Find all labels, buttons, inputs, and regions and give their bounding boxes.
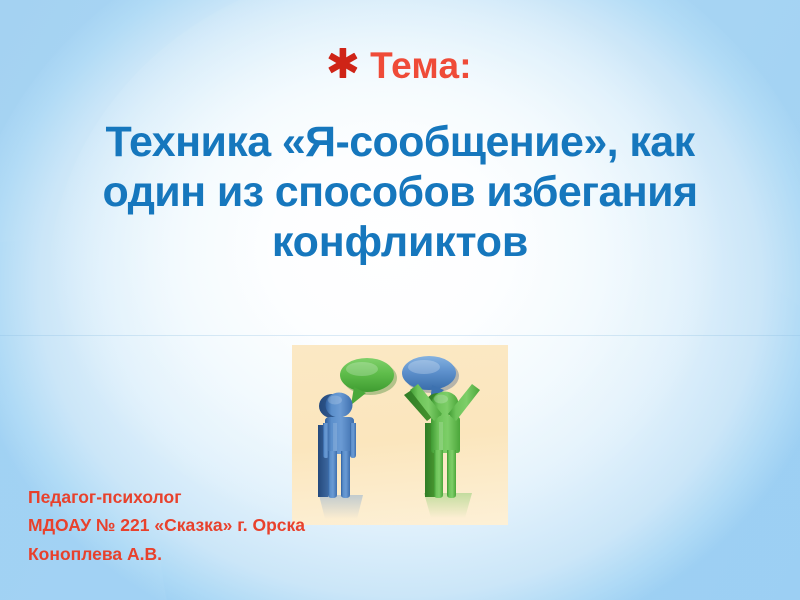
figure-blue-person — [318, 393, 356, 499]
credits-line-2: МДОАУ № 221 «Сказка» г. Орска — [28, 511, 305, 539]
slide-heading: Тема: — [0, 44, 800, 86]
background-seam-line — [0, 335, 800, 336]
asterisk-icon — [328, 44, 358, 86]
page-title-line-3: конфликтов — [28, 218, 772, 268]
credits-line-1: Педагог-психолог — [28, 483, 305, 511]
page-title: Техника «Я-сообщение», как один из спосо… — [28, 118, 772, 268]
slide-heading-label: Тема: — [370, 47, 472, 84]
page-title-line-1: Техника «Я-сообщение», как — [28, 118, 772, 168]
credits-line-3: Коноплева А.В. — [28, 540, 305, 568]
presentation-slide: Тема: Техника «Я-сообщение», как один из… — [0, 0, 800, 600]
figure-green-person — [404, 384, 480, 498]
credits-block: Педагог-психолог МДОАУ № 221 «Сказка» г.… — [28, 483, 305, 568]
two-people-speech-bubbles-illustration — [292, 345, 508, 525]
page-title-line-2: один из способов избегания — [28, 168, 772, 218]
